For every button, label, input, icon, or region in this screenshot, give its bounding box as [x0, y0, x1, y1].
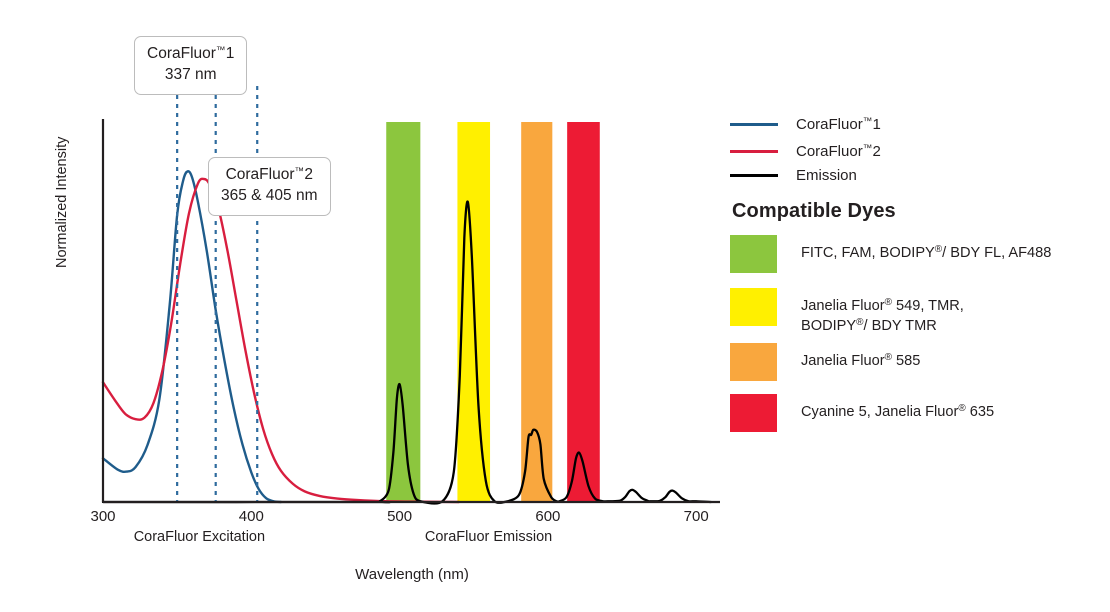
legend-label-tm: ™	[863, 116, 873, 127]
callout-corafluor-2: CoraFluor™2 365 & 405 nm	[208, 157, 331, 216]
x-axis-sublabel-excitation: CoraFluor Excitation	[134, 529, 265, 545]
dye-item-1[interactable]: Janelia Fluor® 549, TMR,BODIPY®/ BDY TMR	[730, 288, 964, 337]
emission-band-0	[386, 122, 420, 502]
dye-line1-registered-icon: ®	[885, 352, 892, 363]
dye-color-swatch	[730, 235, 777, 273]
dye-item-0[interactable]: FITC, FAM, BODIPY®/ BDY FL, AF488	[730, 235, 1051, 273]
emission-band-3	[567, 122, 600, 502]
dye-label-line1: Janelia Fluor® 585	[801, 353, 920, 369]
dye-line1-text-b: / BDY FL, AF488	[942, 245, 1051, 261]
dye-line1-text-a: Cyanine 5, Janelia Fluor	[801, 404, 958, 420]
legend-item-label: CoraFluor™2	[796, 143, 881, 160]
dye-line1-registered-icon: ®	[885, 297, 892, 308]
callout-1-value: 337 nm	[147, 65, 234, 86]
dye-line1-text-b: 585	[892, 353, 920, 369]
callout-corafluor-1: CoraFluor™1 337 nm	[134, 36, 247, 95]
dye-label: Janelia Fluor® 549, TMR,BODIPY®/ BDY TMR	[801, 288, 964, 337]
dye-line1-registered-icon: ®	[958, 403, 965, 414]
legend-line-swatch	[730, 174, 778, 177]
callout-1-num: 1	[226, 45, 235, 62]
dye-color-swatch	[730, 343, 777, 381]
compatible-dyes-title: Compatible Dyes	[732, 200, 896, 223]
x-axis-sublabel-emission: CoraFluor Emission	[425, 529, 552, 545]
dye-line1-text-b: 635	[966, 404, 994, 420]
x-tick-700: 700	[684, 508, 709, 525]
dye-item-2[interactable]: Janelia Fluor® 585	[730, 343, 920, 381]
callout-1-tm: ™	[216, 45, 226, 56]
legend-label-name: Emission	[796, 167, 857, 184]
x-axis-title: Wavelength (nm)	[355, 566, 469, 583]
callout-1-name: CoraFluor	[147, 45, 216, 62]
dye-label-line1: Janelia Fluor® 549, TMR,	[801, 298, 964, 314]
dye-label-line1: Cyanine 5, Janelia Fluor® 635	[801, 404, 994, 420]
legend-label-name: CoraFluor	[796, 143, 863, 160]
callout-2-tm: ™	[295, 166, 305, 177]
chart-root: CoraFluor™1 337 nm CoraFluor™2 365 & 405…	[0, 0, 1110, 612]
excitation-curve-0	[103, 171, 281, 502]
dye-label: Janelia Fluor® 585	[801, 343, 920, 371]
dye-label-line2: BODIPY®/ BDY TMR	[801, 316, 964, 336]
dye-color-swatch	[730, 394, 777, 432]
legend-label-num: 1	[873, 116, 881, 133]
emission-band-2	[521, 122, 552, 502]
legend-item-2[interactable]: Emission	[730, 166, 857, 184]
plot-area: CoraFluor™1 337 nm CoraFluor™2 365 & 405…	[0, 0, 730, 612]
right-panel: CoraFluor™1CoraFluor™2Emission Compatibl…	[730, 0, 1110, 612]
legend-item-label: Emission	[796, 167, 857, 184]
legend-item-label: CoraFluor™1	[796, 116, 881, 133]
x-tick-400: 400	[239, 508, 264, 525]
dye-label-line1: FITC, FAM, BODIPY®/ BDY FL, AF488	[801, 245, 1051, 261]
legend-label-num: 2	[873, 143, 881, 160]
callout-2-value: 365 & 405 nm	[221, 186, 318, 207]
dye-line2-text-b: / BDY TMR	[864, 318, 937, 334]
legend-line-swatch	[730, 150, 778, 153]
y-axis-title: Normalized Intensity	[54, 68, 70, 268]
dye-line1-text-b: 549, TMR,	[892, 298, 964, 314]
legend-line-swatch	[730, 123, 778, 126]
dye-line2-text-a: BODIPY	[801, 318, 856, 334]
legend-label-name: CoraFluor	[796, 116, 863, 133]
dye-line1-text-a: Janelia Fluor	[801, 298, 885, 314]
dye-color-swatch	[730, 288, 777, 326]
legend-item-0[interactable]: CoraFluor™1	[730, 115, 881, 133]
dye-item-3[interactable]: Cyanine 5, Janelia Fluor® 635	[730, 394, 994, 432]
callout-2-num: 2	[304, 166, 313, 183]
dye-label: FITC, FAM, BODIPY®/ BDY FL, AF488	[801, 235, 1051, 263]
legend-item-1[interactable]: CoraFluor™2	[730, 142, 881, 160]
x-tick-300: 300	[90, 508, 115, 525]
dye-line2-registered-icon: ®	[856, 317, 863, 328]
dye-line1-text-a: Janelia Fluor	[801, 353, 885, 369]
callout-2-name: CoraFluor	[226, 166, 295, 183]
dye-line1-text-a: FITC, FAM, BODIPY	[801, 245, 935, 261]
dye-label: Cyanine 5, Janelia Fluor® 635	[801, 394, 994, 422]
legend-label-tm: ™	[863, 143, 873, 154]
x-tick-600: 600	[535, 508, 560, 525]
x-tick-500: 500	[387, 508, 412, 525]
